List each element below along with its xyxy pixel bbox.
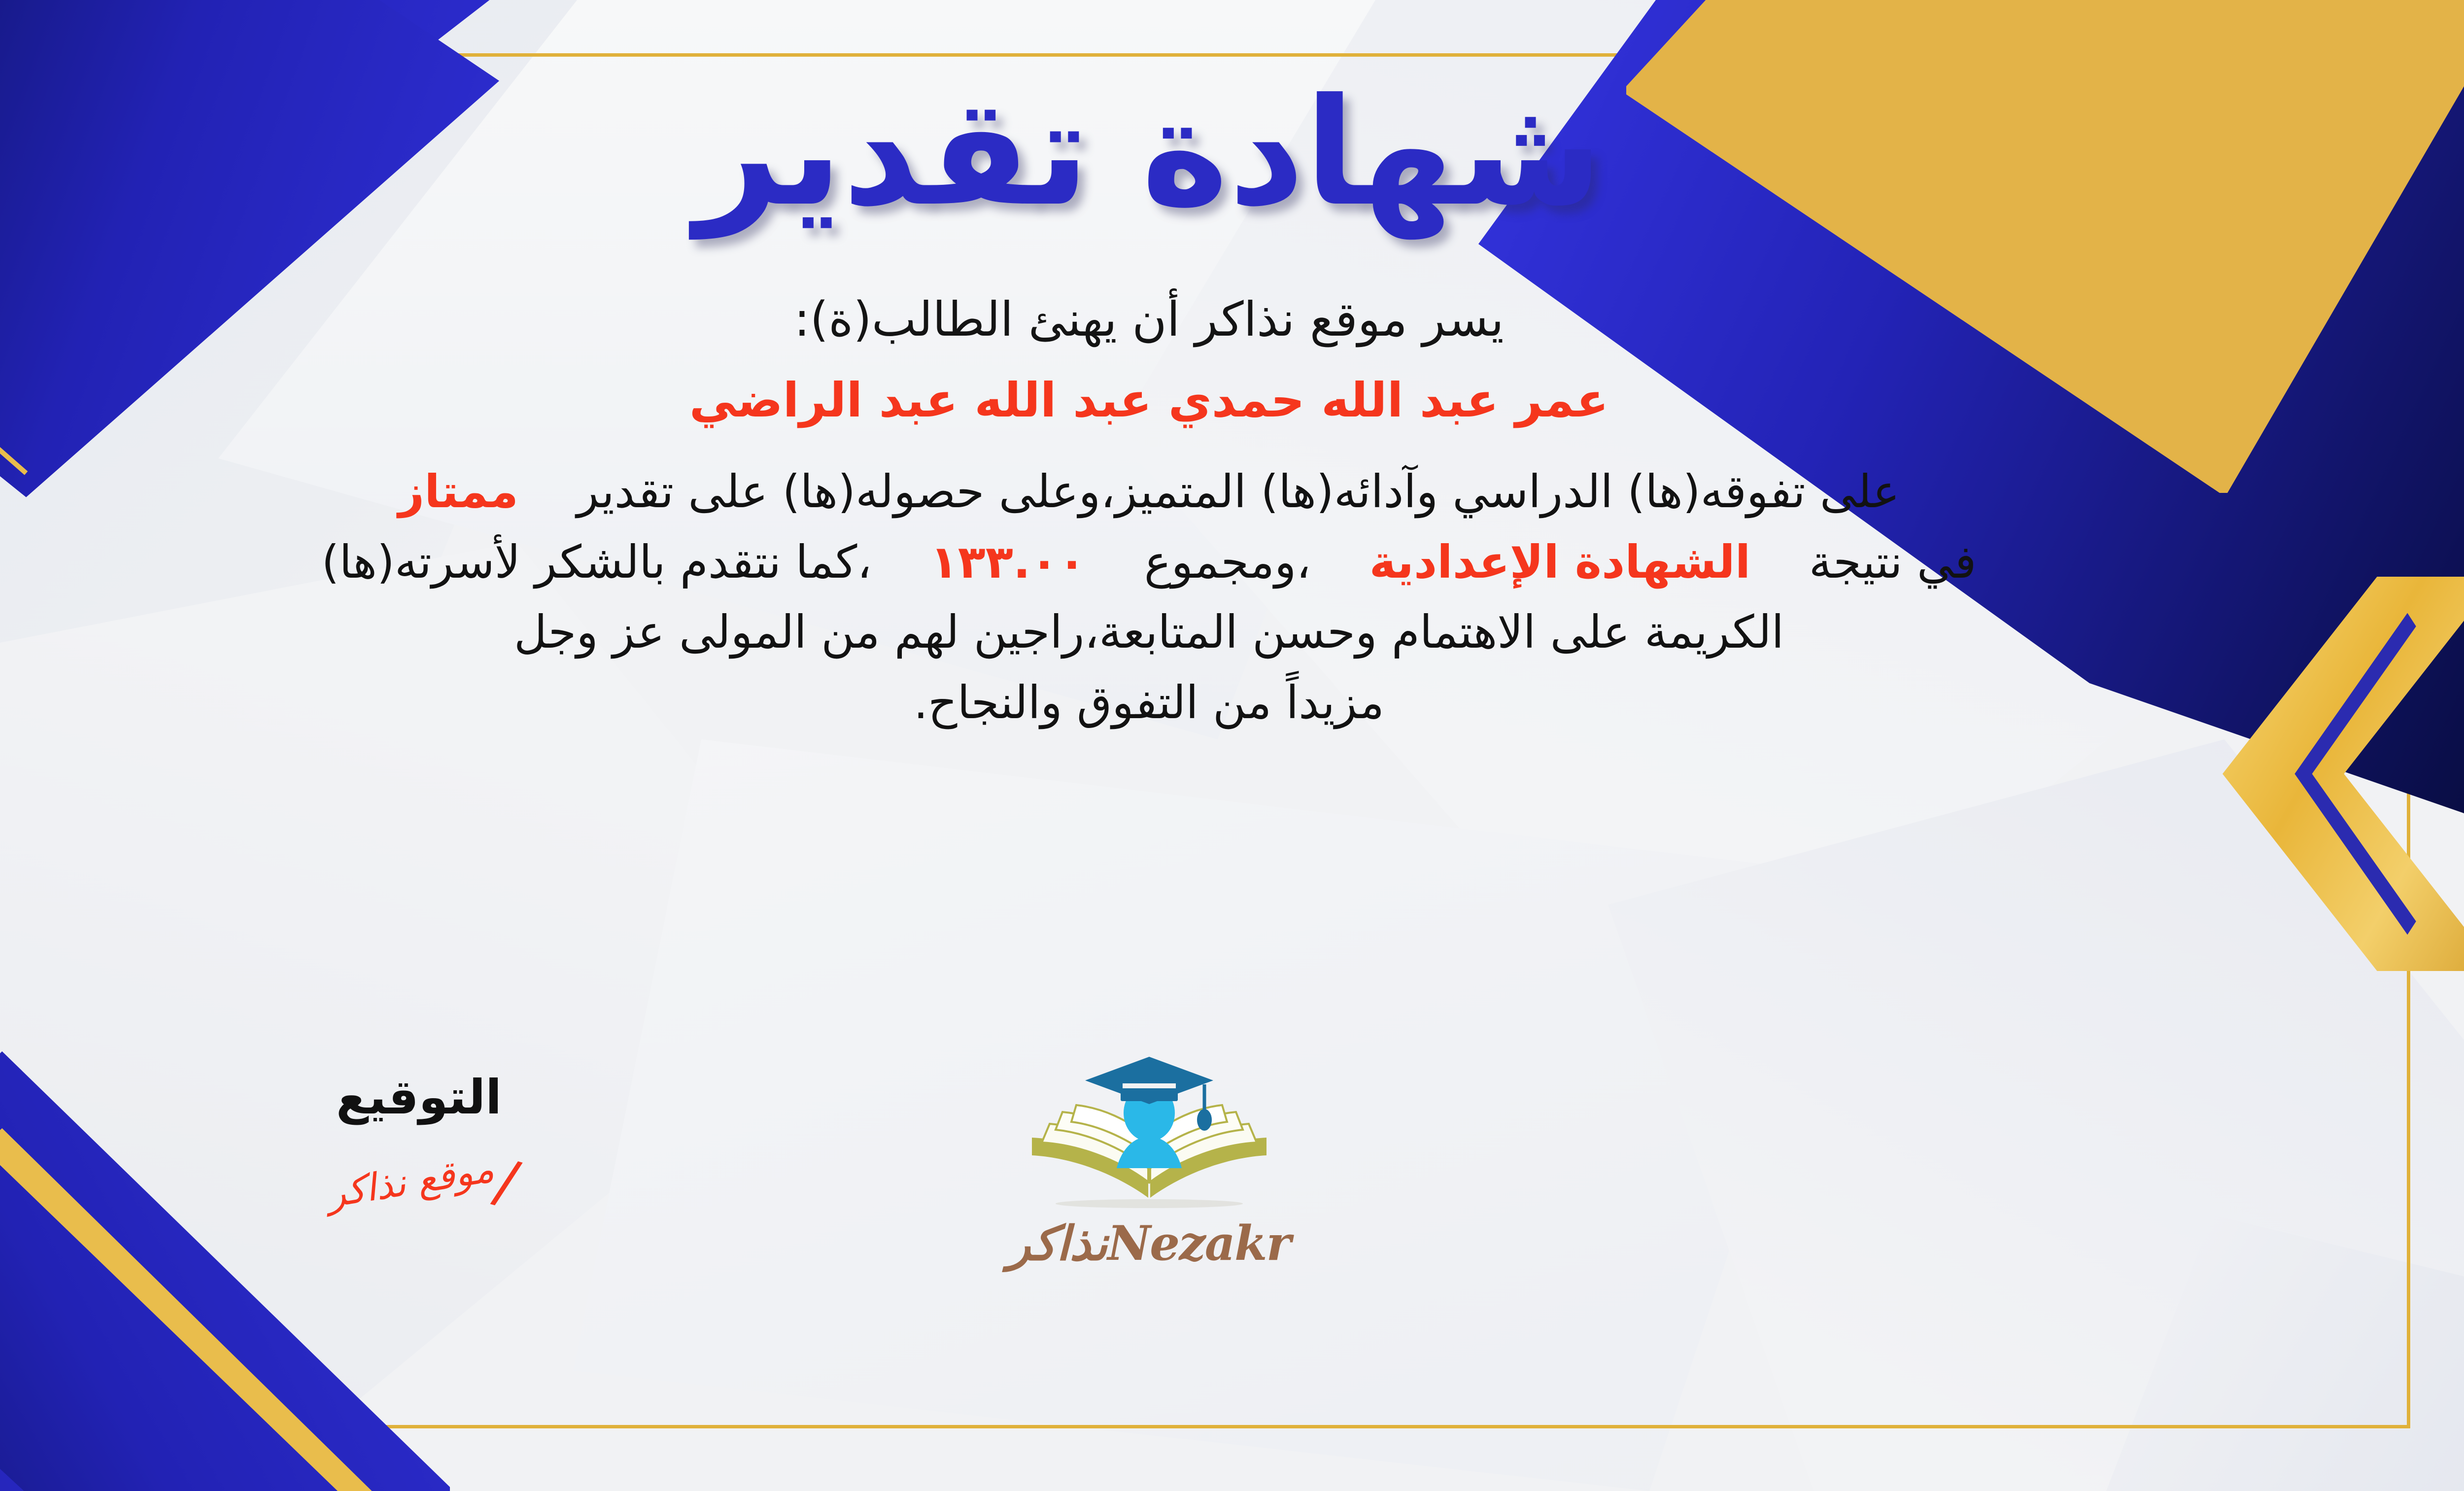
logo-wordmark: Nezakrنذاكر [977, 1215, 1322, 1271]
certificate-title: شهادة تقدير [0, 79, 2390, 227]
certificate-body: يسر موقع نذاكر أن يهنئ الطالب(ة): عمر عب… [0, 286, 2390, 738]
signature-mark-text: موقع نذاكر [324, 1146, 497, 1216]
certificate-content: شهادة تقدير يسر موقع نذاكر أن يهنئ الطال… [0, 64, 2390, 1424]
organization-logo: Nezakrنذاكر [977, 1050, 1322, 1271]
cap-tassel [1197, 1109, 1212, 1131]
graduation-cap-stripe [1123, 1083, 1176, 1088]
paragraph-part-2: في نتيجة [1809, 536, 1977, 589]
paragraph-part-1: على تفوقه(ها) الدراسي وآدائه(ها) المتميز… [577, 465, 1900, 518]
signature-block: التوقيع / موقع نذاكر [246, 1070, 591, 1216]
grade-value: ممتاز [398, 465, 518, 518]
signature-label: التوقيع [246, 1070, 591, 1125]
logo-shadow [1056, 1199, 1243, 1208]
achievement-paragraph: على تفوقه(ها) الدراسي وآدائه(ها) المتميز… [26, 457, 2273, 738]
paragraph-part-4: ،كما نتقدم بالشكر لأسرته(ها) [321, 536, 872, 589]
paragraph-part-3: ،ومجموع [1144, 536, 1311, 589]
logo-graphic [1011, 1050, 1287, 1213]
greeting-line: يسر موقع نذاكر أن يهنئ الطالب(ة): [0, 286, 2390, 353]
certificate-page: شهادة تقدير يسر موقع نذاكر أن يهنئ الطال… [0, 0, 2464, 1491]
certificate-footer: التوقيع / موقع نذاكر [0, 1070, 2390, 1365]
total-score: ١٣٣.٠٠ [930, 536, 1086, 589]
student-name: عمر عبد الله حمدي عبد الله عبد الراضي [0, 370, 2390, 431]
signature-handwriting: / موقع نذاكر [246, 1125, 591, 1216]
paragraph-part-5: الكريمة على الاهتمام وحسن المتابعة،راجين… [514, 606, 1784, 659]
exam-name: الشهادة الإعدادية [1369, 536, 1751, 589]
paragraph-part-6: مزيداً من التفوق والنجاح. [914, 676, 1384, 729]
graduate-book-icon [1011, 1050, 1287, 1213]
